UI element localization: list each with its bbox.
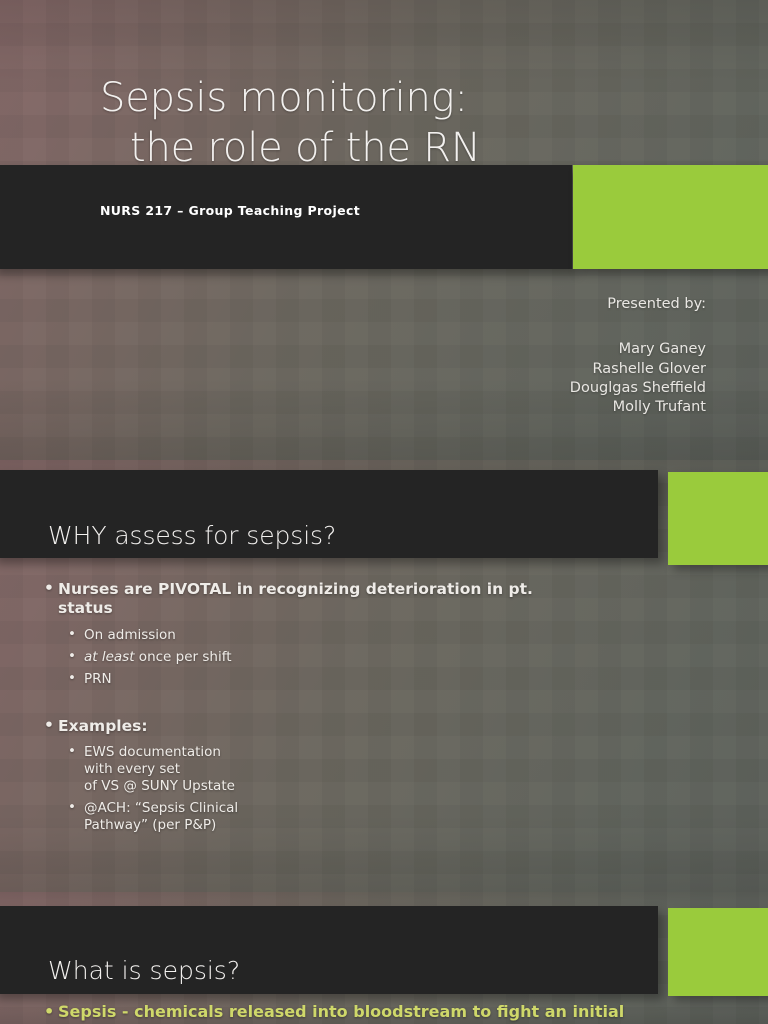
slide2-title: WHY assess for sepsis? bbox=[48, 521, 336, 550]
bullet-level2: EWS documentation with every set of VS @… bbox=[44, 744, 564, 795]
slide3-bullet: Sepsis - chemicals released into bloodst… bbox=[44, 1002, 758, 1021]
slide-title: Sepsis monitoring: the role of the RN NU… bbox=[0, 0, 768, 460]
slide-what-is-sepsis: What is sepsis? Sepsis - chemicals relea… bbox=[0, 892, 768, 1024]
slide3-title: What is sepsis? bbox=[48, 956, 240, 985]
bullet-level1: Nurses are PIVOTAL in recognizing deteri… bbox=[44, 580, 564, 619]
bullet-level2: PRN bbox=[44, 671, 564, 688]
slide2-bullet-list: Nurses are PIVOTAL in recognizing deteri… bbox=[44, 580, 564, 839]
page-title: Sepsis monitoring: the role of the RN bbox=[60, 73, 700, 174]
bullet-level2: On admission bbox=[44, 627, 564, 644]
presenter-name: Douglgas Sheffield bbox=[570, 379, 706, 398]
bullet-text-line: with every set bbox=[84, 761, 180, 777]
list-spacer bbox=[44, 693, 564, 717]
slide-why-assess: WHY assess for sepsis? Nurses are PIVOTA… bbox=[0, 460, 768, 892]
bullet-text-line: Pathway” (per P&P) bbox=[84, 817, 216, 833]
bullet-level1: Examples: bbox=[44, 717, 564, 736]
bullet-emphasis: at least bbox=[84, 649, 135, 665]
bullet-text-line: @ACH: “Sepsis Clinical bbox=[84, 800, 238, 816]
course-subtitle: NURS 217 – Group Teaching Project bbox=[100, 203, 360, 218]
accent-block-green bbox=[668, 472, 768, 565]
presentation-deck: Sepsis monitoring: the role of the RN NU… bbox=[0, 0, 768, 1024]
title-line-1: Sepsis monitoring: bbox=[60, 73, 700, 123]
bullet-level2: at least once per shift bbox=[44, 649, 564, 666]
bullet-text-line: EWS documentation bbox=[84, 744, 221, 760]
presenter-name: Molly Trufant bbox=[570, 398, 706, 417]
bullet-text: once per shift bbox=[135, 649, 232, 665]
presenter-name: Mary Ganey bbox=[570, 340, 706, 359]
accent-block-green bbox=[668, 908, 768, 996]
bullet-text-line: of VS @ SUNY Upstate bbox=[84, 778, 235, 794]
presented-by-label: Presented by: bbox=[570, 295, 706, 314]
bullet-level2: @ACH: “Sepsis Clinical Pathway” (per P&P… bbox=[44, 800, 564, 834]
presenter-name: Rashelle Glover bbox=[570, 360, 706, 379]
accent-block-green bbox=[573, 165, 768, 269]
presenters-list: Presented by: Mary Ganey Rashelle Glover… bbox=[570, 295, 706, 417]
